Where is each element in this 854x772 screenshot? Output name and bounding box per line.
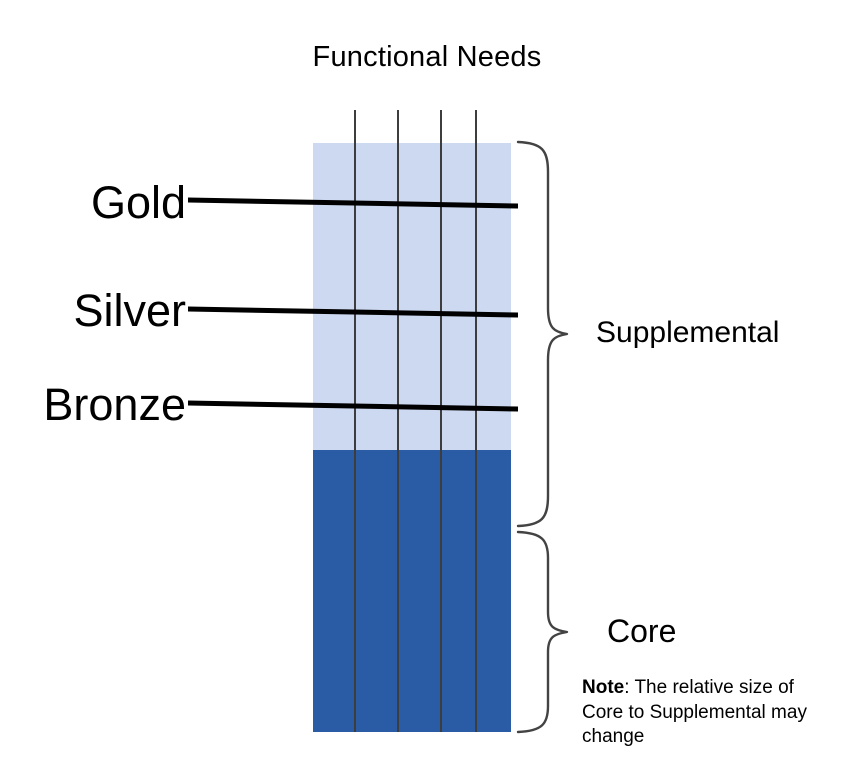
tier-label-gold: Gold	[0, 178, 186, 228]
group-label-core: Core	[607, 612, 676, 650]
tier-label-silver: Silver	[0, 286, 186, 336]
tier-pointer-line-gold	[188, 190, 518, 212]
tier-label-bronze: Bronze	[0, 380, 186, 430]
page-title: Functional Needs	[0, 40, 854, 74]
brace-core	[512, 528, 572, 736]
tier-pointer-line-bronze	[188, 393, 518, 415]
block-segment-core	[313, 450, 511, 732]
stacked-block	[313, 143, 511, 732]
note-lead: Note	[582, 677, 624, 698]
tier-pointer-line-silver	[188, 299, 518, 321]
brace-supplemental	[512, 138, 572, 530]
group-label-supplemental: Supplemental	[596, 315, 779, 351]
note-text: Note: The relative size of Core to Suppl…	[582, 676, 840, 750]
note-separator: :	[624, 677, 634, 698]
diagram-canvas: Functional Needs Gold Silver Bronze Supp…	[0, 0, 854, 772]
